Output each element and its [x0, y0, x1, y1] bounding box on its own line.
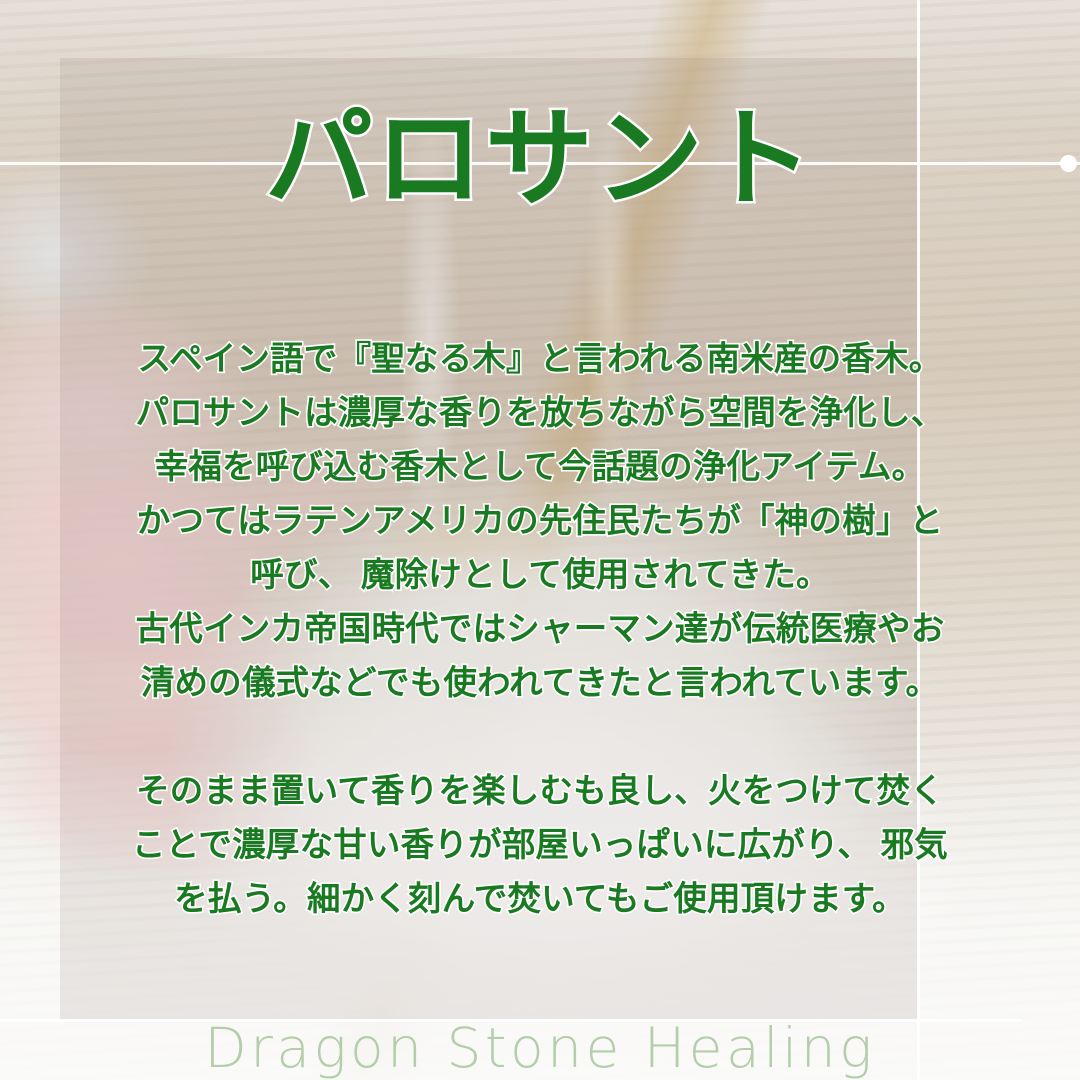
brand-footer: Dragon Stone Healing — [0, 1016, 1080, 1080]
paragraph-intro: スペイン語で『聖なる木』と言われる南米産の香木。 パロサントは濃厚な香りを放ちな… — [50, 333, 1030, 711]
paragraph-usage: そのまま置いて香りを楽しむも良し、火をつけて焚く ことで濃厚な甘い香りが部屋いっ… — [50, 765, 1030, 927]
text-line: かつてはラテンアメリカの先住民たちが「神の樹」と — [50, 495, 1030, 549]
text-line: 幸福を呼び込む香木として今話題の浄化アイテム。 — [50, 441, 1030, 495]
text-line: を払う。細かく刻んで焚いてもご使用頂けます。 — [50, 873, 1030, 927]
poster-content: パロサント スペイン語で『聖なる木』と言われる南米産の香木。 パロサントは濃厚な… — [0, 0, 1080, 1080]
text-line: そのまま置いて香りを楽しむも良し、火をつけて焚く — [50, 765, 1030, 819]
text-line: パロサントは濃厚な香りを放ちながら空間を浄化し、 — [50, 387, 1030, 441]
text-line: 古代インカ帝国時代ではシャーマン達が伝統医療やお — [50, 603, 1030, 657]
page-title: パロサント — [0, 100, 1080, 219]
text-line: スペイン語で『聖なる木』と言われる南米産の香木。 — [50, 333, 1030, 387]
poster-canvas: パロサント スペイン語で『聖なる木』と言われる南米産の香木。 パロサントは濃厚な… — [0, 0, 1080, 1080]
text-line: ことで濃厚な甘い香りが部屋いっぱいに広がり、 邪気 — [50, 819, 1030, 873]
text-line: 呼び、 魔除けとして使用されてきた。 — [50, 549, 1030, 603]
body-text-block: スペイン語で『聖なる木』と言われる南米産の香木。 パロサントは濃厚な香りを放ちな… — [50, 333, 1030, 927]
text-line: 清めの儀式などでも使われてきたと言われています。 — [50, 657, 1030, 711]
